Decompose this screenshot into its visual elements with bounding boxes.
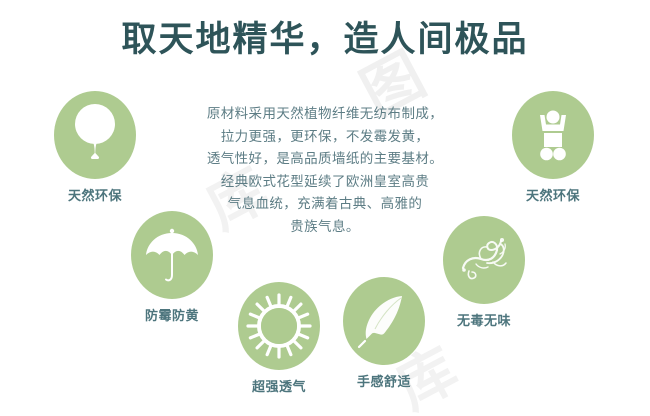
feature-badge-breathable[interactable]: 超强透气	[238, 282, 320, 395]
sunburst-icon	[238, 282, 320, 370]
description-line: 贵族气息。	[175, 216, 475, 239]
description-line: 原材料采用天然植物纤维无纺布制成，	[175, 103, 475, 126]
feature-badge-soft-touch[interactable]: 手感舒适	[343, 277, 425, 390]
feature-label: 手感舒适	[343, 371, 425, 390]
feature-disc	[343, 277, 425, 365]
feature-disc	[512, 91, 594, 179]
feature-disc	[238, 282, 320, 370]
tree-icon	[54, 91, 136, 179]
description-paragraph: 原材料采用天然植物纤维无纺布制成， 拉力更强，更环保，不发霉发黄， 透气性好，是…	[175, 103, 475, 238]
feature-label: 超强透气	[238, 376, 320, 395]
feature-badge-natural-eco-right[interactable]: 天然环保	[512, 91, 594, 204]
description-line: 透气性好，是高品质墙纸的主要基材。	[175, 148, 475, 171]
feature-badge-natural-eco-left[interactable]: 天然环保	[54, 91, 136, 204]
feature-label: 天然环保	[54, 185, 136, 204]
person-icon	[512, 91, 594, 179]
description-line: 经典欧式花型延续了欧洲皇室高贵	[175, 171, 475, 194]
feature-disc	[54, 91, 136, 179]
feature-label: 无毒无味	[443, 310, 525, 329]
feather-icon	[343, 277, 425, 365]
poster-canvas: 图 库 库 取天地精华，造人间极品 原材料采用天然植物纤维无纺布制成， 拉力更强…	[0, 0, 650, 416]
page-title: 取天地精华，造人间极品	[0, 18, 650, 62]
feature-label: 防霉防黄	[131, 305, 213, 324]
description-line: 气息血统，充满着古典、高雅的	[175, 193, 475, 216]
description-line: 拉力更强，更环保，不发霉发黄，	[175, 126, 475, 149]
feature-label: 天然环保	[512, 185, 594, 204]
